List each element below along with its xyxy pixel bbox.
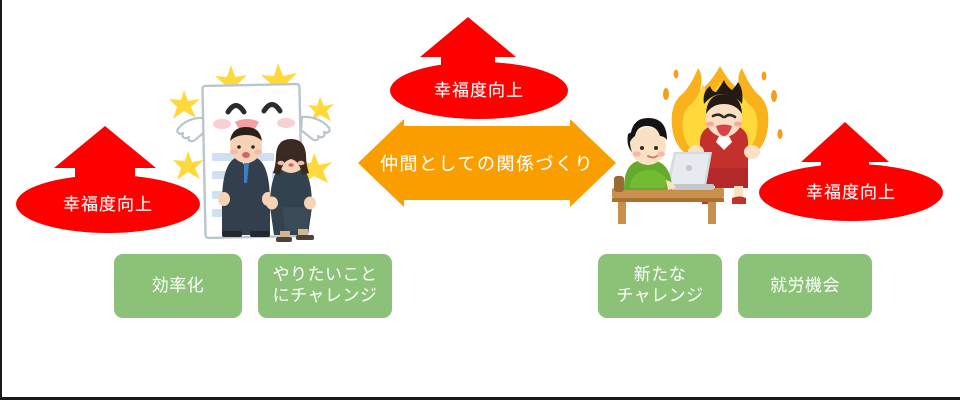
- box-work-opportunity[interactable]: 就労機会: [738, 254, 872, 318]
- callout-left-label: 幸福度向上: [63, 196, 153, 213]
- callout-right-bubble: 幸福度向上: [759, 164, 943, 221]
- relationship-building-arrow: 仲間としての関係づくり: [358, 116, 616, 210]
- box-work-opportunity-label: 就労機会: [764, 276, 846, 297]
- box-want-to-do-challenge[interactable]: やりたいこと にチャレンジ: [258, 254, 392, 318]
- box-efficiency[interactable]: 効率化: [114, 254, 242, 318]
- box-want-to-do-challenge-label: やりたいこと にチャレンジ: [267, 265, 384, 306]
- box-new-challenge[interactable]: 新たな チャレンジ: [598, 254, 722, 318]
- callout-top-label: 幸福度向上: [434, 82, 524, 99]
- illustration-happy-document-with-office-workers: [162, 55, 344, 247]
- callout-top-bubble: 幸福度向上: [390, 62, 568, 119]
- callout-top-happiness: 幸福度向上: [390, 12, 570, 120]
- relationship-building-label: 仲間としての関係づくり: [380, 150, 594, 176]
- callout-right-happiness: 幸福度向上: [759, 118, 949, 222]
- desk-icon: [612, 188, 724, 224]
- person-at-laptop-figure: [614, 118, 676, 192]
- callout-right-label: 幸福度向上: [806, 184, 896, 201]
- box-new-challenge-label: 新たな チャレンジ: [610, 265, 709, 306]
- illustration-worker-at-laptop-and-fired-up-woman: [604, 56, 784, 232]
- box-efficiency-label: 効率化: [146, 276, 211, 297]
- diagram-canvas: 幸福度向上 幸福度向上 幸福度向上 仲間としての関係づくり: [0, 0, 960, 400]
